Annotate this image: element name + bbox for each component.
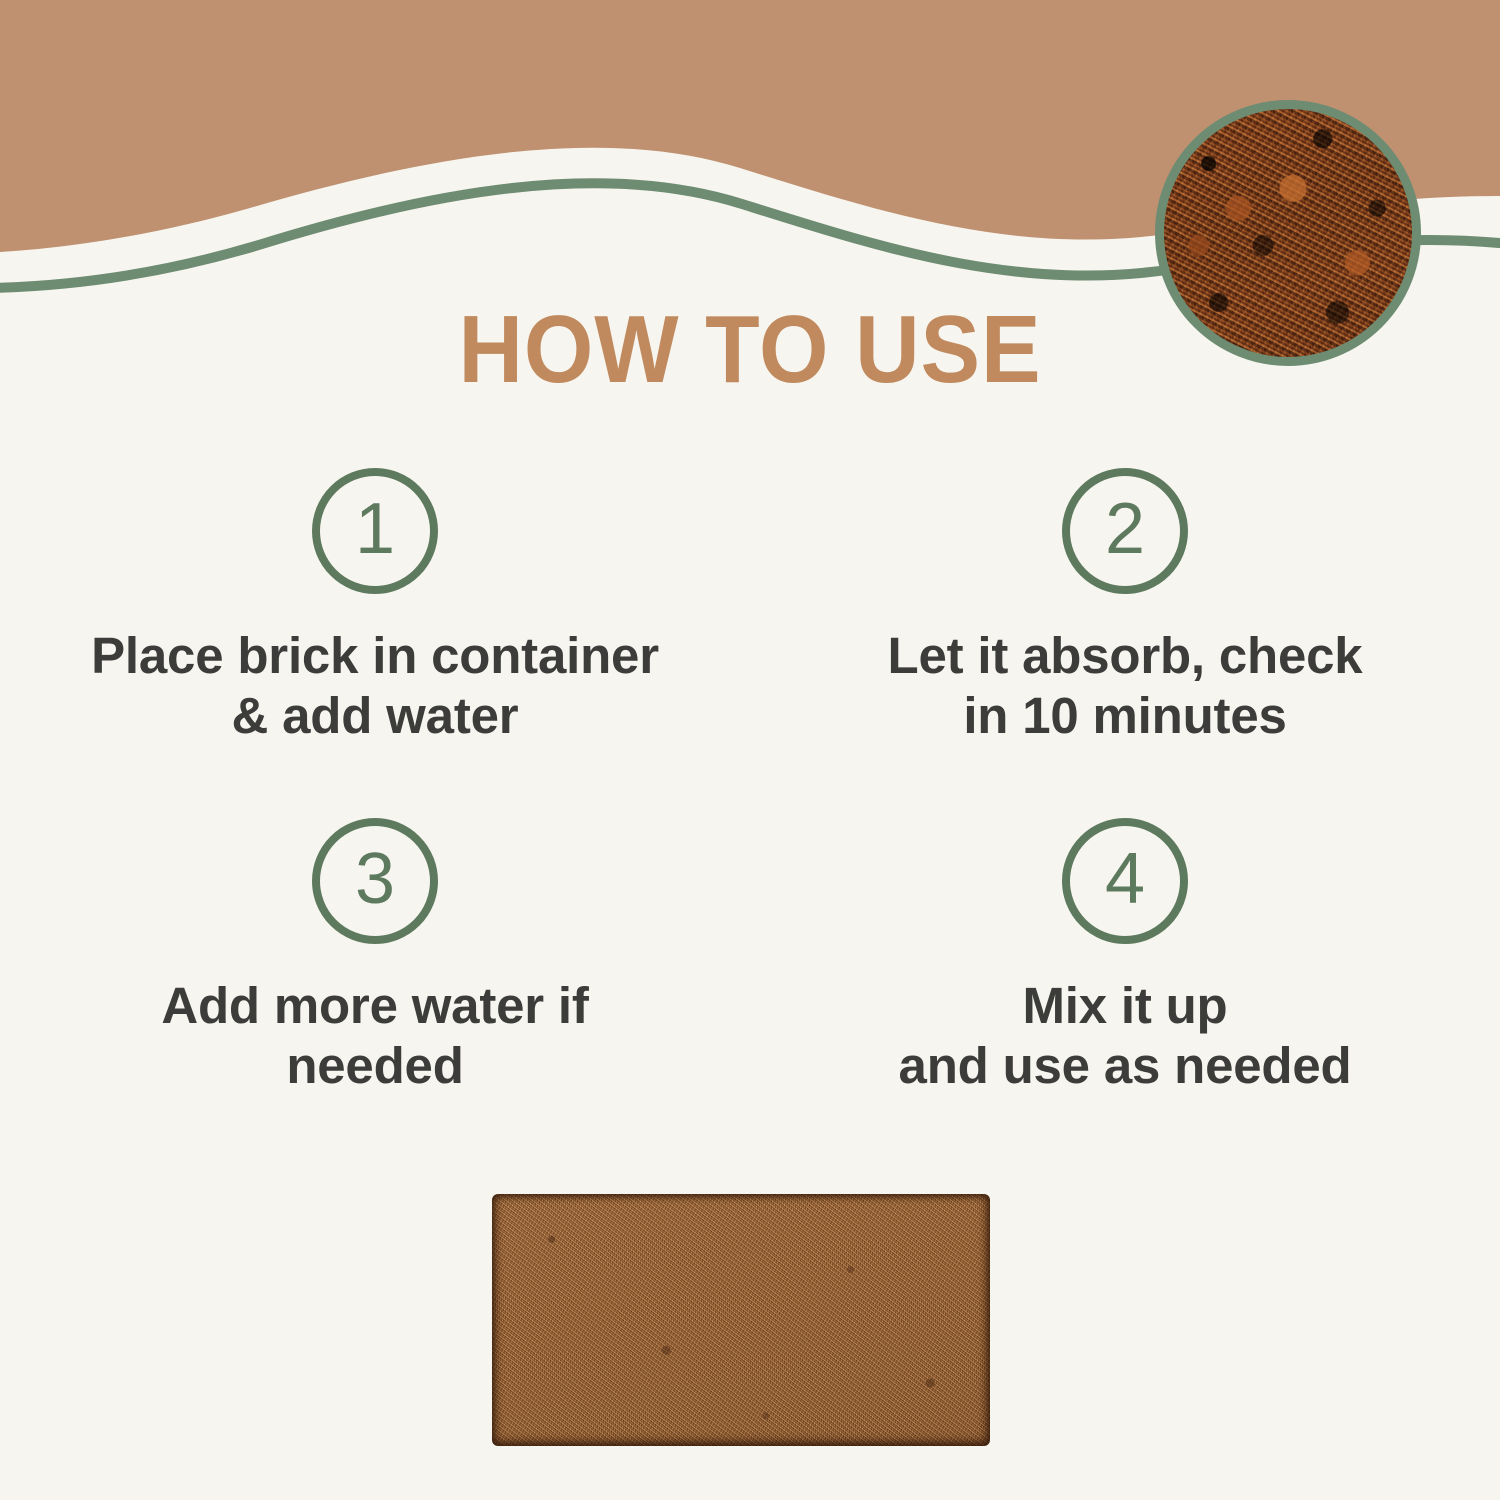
coir-brick-photo <box>492 1194 990 1446</box>
step-3-number: 3 <box>355 843 395 915</box>
infographic-page: HOW TO USE 1 Place brick in container & … <box>0 0 1500 1500</box>
step-1-label: Place brick in container & add water <box>91 626 659 746</box>
step-2-number: 2 <box>1105 493 1145 565</box>
step-3-number-badge: 3 <box>312 818 438 944</box>
step-3: 3 Add more water if needed <box>0 818 750 1168</box>
step-4-number-badge: 4 <box>1062 818 1188 944</box>
step-3-label: Add more water if needed <box>161 976 588 1096</box>
step-4: 4 Mix it up and use as needed <box>750 818 1500 1168</box>
step-4-label: Mix it up and use as needed <box>899 976 1352 1096</box>
step-2-number-badge: 2 <box>1062 468 1188 594</box>
step-2: 2 Let it absorb, check in 10 minutes <box>750 468 1500 818</box>
step-1-number: 1 <box>355 493 395 565</box>
step-4-number: 4 <box>1105 843 1145 915</box>
step-2-label: Let it absorb, check in 10 minutes <box>888 626 1363 746</box>
page-title: HOW TO USE <box>53 297 1448 403</box>
steps-grid: 1 Place brick in container & add water 2… <box>0 468 1500 1168</box>
step-1: 1 Place brick in container & add water <box>0 468 750 818</box>
step-1-number-badge: 1 <box>312 468 438 594</box>
